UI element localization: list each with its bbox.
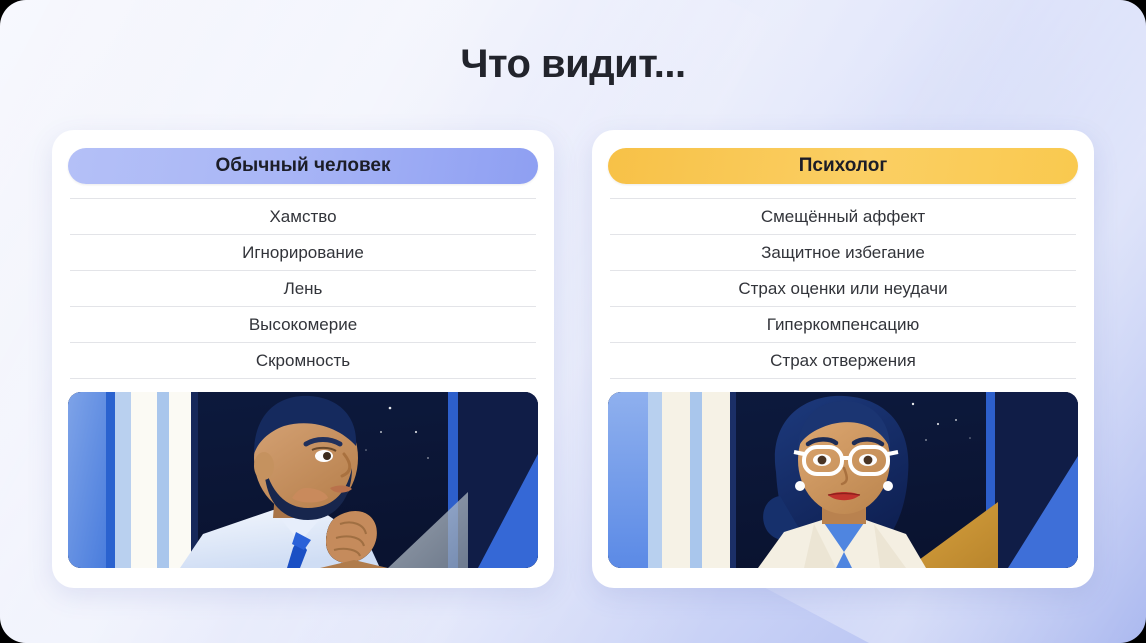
woman-psychologist-illustration	[608, 392, 1078, 568]
man-thinking-illustration	[68, 392, 538, 568]
card-ordinary-person: Обычный человек Хамство Игнорирование Ле…	[52, 130, 554, 588]
page-title: Что видит...	[0, 42, 1146, 87]
list-item: Высокомерие	[70, 306, 536, 342]
list-item: Лень	[70, 270, 536, 306]
list-psychologist: Смещённый аффект Защитное избегание Стра…	[608, 198, 1078, 379]
slide-canvas: Что видит... Обычный человек Хамство Игн…	[0, 0, 1146, 643]
list-item: Игнорирование	[70, 234, 536, 270]
comparison-cards: Обычный человек Хамство Игнорирование Ле…	[52, 130, 1094, 588]
list-item: Страх отвержения	[610, 342, 1076, 379]
card-header-ordinary-person: Обычный человек	[68, 148, 538, 184]
list-item: Скромность	[70, 342, 536, 379]
list-item: Гиперкомпенсацию	[610, 306, 1076, 342]
list-item: Защитное избегание	[610, 234, 1076, 270]
list-item: Хамство	[70, 198, 536, 234]
list-item: Смещённый аффект	[610, 198, 1076, 234]
list-ordinary-person: Хамство Игнорирование Лень Высокомерие С…	[68, 198, 538, 379]
card-header-psychologist: Психолог	[608, 148, 1078, 184]
card-psychologist: Психолог Смещённый аффект Защитное избег…	[592, 130, 1094, 588]
list-item: Страх оценки или неудачи	[610, 270, 1076, 306]
